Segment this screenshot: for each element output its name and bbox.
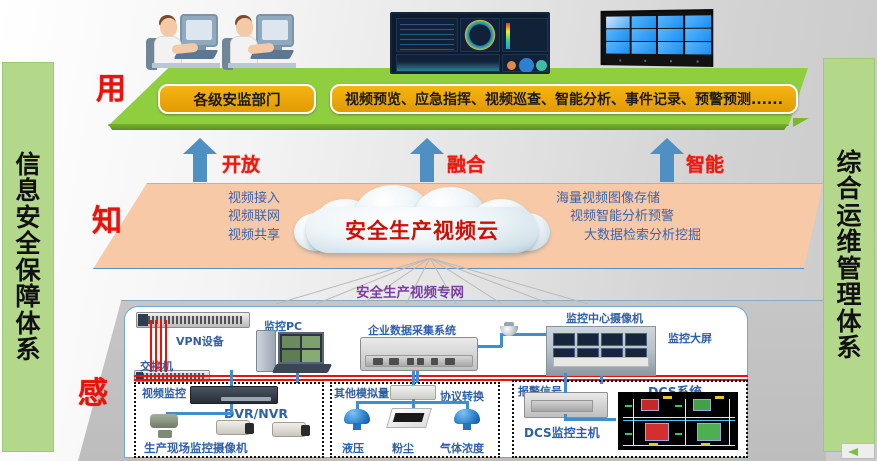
use-layer-box-functions[interactable]: 视频预览、应急指挥、视频巡查、智能分析、事件记录、预警预测...... xyxy=(330,84,798,114)
dashboard-area-chart-panel xyxy=(396,54,500,72)
capability-item: 视频智能分析预警 xyxy=(556,208,736,226)
architecture-diagram: 各级安监部门 视频预览、应急指挥、视频巡查、智能分析、事件记录、预警预测....… xyxy=(0,0,877,461)
dvr-nvr-label: DVR/NVR xyxy=(224,406,288,421)
side-char: 保 xyxy=(15,258,40,284)
sensor-label-gas: 气体浓度 xyxy=(440,440,484,456)
video-wall-cell xyxy=(658,29,684,41)
control-center-camera xyxy=(498,322,520,336)
ptz-camera xyxy=(150,412,180,438)
side-char: 理 xyxy=(836,282,861,308)
side-char: 维 xyxy=(836,229,861,255)
arrow-up-smart xyxy=(650,138,684,182)
dust-sensor xyxy=(386,408,432,428)
vpn-device-label: VPN设备 xyxy=(176,333,224,349)
video-cloud-shape: 安全生产视频云 xyxy=(288,185,556,263)
video-wall-grid xyxy=(606,15,711,54)
dcs-unit xyxy=(693,399,711,411)
side-band-information-security: 信 息 安 全 保 障 体 系 xyxy=(2,62,54,452)
desk-shape xyxy=(228,63,296,68)
group-title-analog: 其他模拟量 xyxy=(334,385,389,401)
side-char: 信 xyxy=(15,152,40,178)
layer-letter-know: 知 xyxy=(92,196,122,240)
group-title-video-monitoring: 视频监控 xyxy=(142,385,186,401)
network-label: 安全生产视频专网 xyxy=(356,281,464,301)
analytics-dashboard-screen xyxy=(390,12,550,74)
protocol-converter-device xyxy=(390,385,436,400)
control-room-photo xyxy=(546,326,656,376)
side-char: 体 xyxy=(15,311,40,337)
side-char: 障 xyxy=(15,284,40,310)
operator-figure xyxy=(222,8,296,74)
dcs-system-schematic xyxy=(618,392,738,450)
cloud-label: 安全生产视频云 xyxy=(288,207,556,253)
layer-letter-sense: 感 xyxy=(78,368,108,412)
capability-item: 海量视频图像存储 xyxy=(556,190,736,208)
video-wall-cell xyxy=(606,29,630,40)
dashboard-table-panel xyxy=(396,18,458,52)
data-collection-system-label: 企业数据采集系统 xyxy=(368,322,456,338)
dcs-host-label: DCS监控主机 xyxy=(524,424,600,441)
dashboard-gauge-panel xyxy=(460,18,500,52)
side-char: 合 xyxy=(836,176,861,202)
capability-item: 大数据检索分析挖掘 xyxy=(556,227,736,245)
pc-keyboard xyxy=(272,364,332,373)
video-wall-cell xyxy=(685,29,711,41)
video-wall-frame xyxy=(601,9,714,67)
pc-screen xyxy=(278,332,324,364)
corner-play-marker xyxy=(841,443,875,459)
arrow-up-open xyxy=(183,138,217,182)
side-char: 系 xyxy=(15,337,40,363)
side-char: 综 xyxy=(836,150,861,176)
video-wall-cell xyxy=(606,16,630,28)
slab-corner-triangle xyxy=(793,118,809,127)
capability-item: 视频接入 xyxy=(130,190,280,208)
side-char: 息 xyxy=(15,178,40,204)
video-wall-illustration xyxy=(598,10,718,76)
vpn-device xyxy=(136,312,250,328)
pc-tower xyxy=(256,330,276,372)
dcs-unit xyxy=(645,423,669,441)
operator-figure xyxy=(146,8,220,74)
monitor-wall-label: 监控大屏 xyxy=(668,330,712,346)
head-shape xyxy=(236,18,253,37)
side-char: 运 xyxy=(836,203,861,229)
dvr-nvr-device xyxy=(190,386,278,404)
dcs-unit xyxy=(641,399,659,411)
arrow-label-smart: 智能 xyxy=(686,150,724,177)
video-wall-cell xyxy=(606,42,630,54)
side-char: 系 xyxy=(836,335,861,361)
capability-item: 视频共享 xyxy=(130,227,280,245)
dcs-unit xyxy=(697,423,721,441)
side-char: 管 xyxy=(836,256,861,282)
sensor-label-hydraulic: 液压 xyxy=(342,440,364,456)
side-char: 全 xyxy=(15,231,40,257)
layer-letter-use: 用 xyxy=(96,64,126,108)
side-char: 体 xyxy=(836,309,861,335)
video-wall-cell xyxy=(658,42,684,54)
cloud-capabilities-left: 视频接入 视频联网 视频共享 xyxy=(130,190,280,245)
layer-use-edge xyxy=(108,124,808,130)
sensor-label-dust: 粉尘 xyxy=(392,440,414,456)
bullet-camera xyxy=(272,422,306,437)
video-wall-cell xyxy=(685,42,711,54)
monitor-shape xyxy=(256,14,294,47)
control-center-camera-label: 监控中心摄像机 xyxy=(566,310,643,326)
head-shape xyxy=(160,18,177,37)
site-cameras-label: 生产现场监控摄像机 xyxy=(144,440,248,456)
dashboard-scatter-panel xyxy=(502,18,548,52)
side-char: 安 xyxy=(15,205,40,231)
monitor-shape xyxy=(180,14,218,47)
capability-item: 视频联网 xyxy=(130,208,280,226)
data-collection-server xyxy=(360,337,478,371)
video-wall-cell xyxy=(632,29,657,41)
arrow-up-fuse xyxy=(410,138,444,182)
video-wall-cell xyxy=(632,16,657,28)
video-wall-base xyxy=(606,55,711,66)
operators-at-computers-illustration xyxy=(146,8,306,74)
video-wall-cell xyxy=(632,42,657,54)
arrow-label-open: 开放 xyxy=(222,150,260,177)
bullet-camera xyxy=(216,420,250,435)
use-layer-box-departments[interactable]: 各级安监部门 xyxy=(158,84,316,114)
arrow-label-fuse: 融合 xyxy=(447,150,485,177)
dashboard-bubble-panel xyxy=(502,54,548,72)
cloud-capabilities-right: 海量视频图像存储 视频智能分析预警 大数据检索分析挖掘 xyxy=(556,190,736,245)
desk-shape xyxy=(152,63,220,68)
video-wall-cell xyxy=(658,16,684,28)
video-wall-cell xyxy=(685,15,711,27)
side-band-operations-management: 综 合 运 维 管 理 体 系 xyxy=(823,58,875,452)
